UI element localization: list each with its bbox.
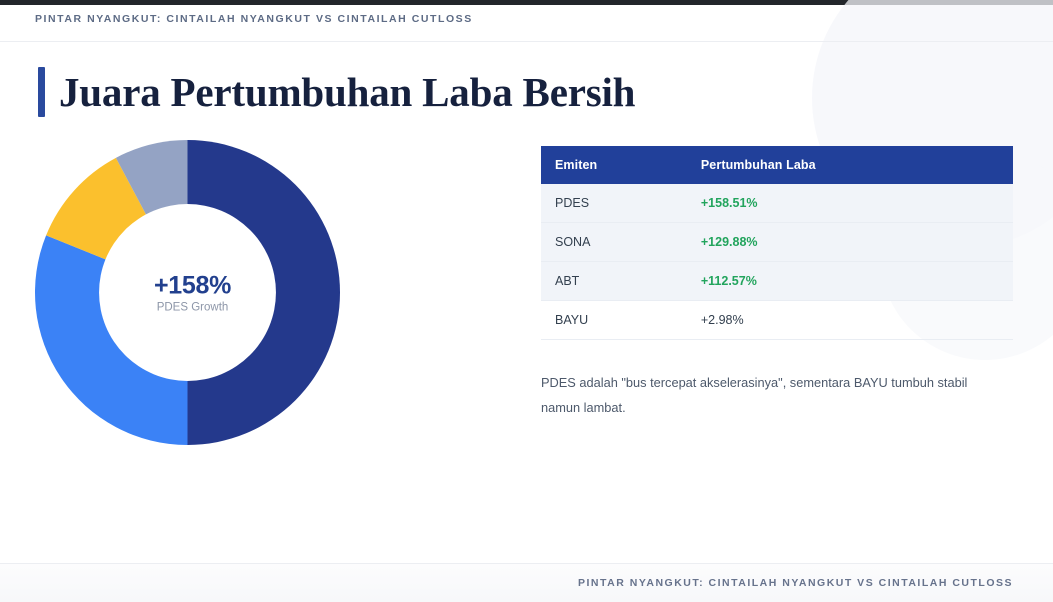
donut-chart: +158% PDES Growth [35,140,350,445]
chart-caption: PDES adalah "bus tercepat akselerasinya"… [541,371,993,420]
header-kicker: PINTAR NYANGKUT: CINTAILAH NYANGKUT VS C… [35,13,473,25]
table-row: SONA+129.88% [541,223,1013,262]
cell-emiten: ABT [541,262,678,301]
footer-text: PINTAR NYANGKUT: CINTAILAH NYANGKUT VS C… [0,577,1013,589]
table-row: PDES+158.51% [541,184,1013,223]
donut-center-caption: PDES Growth [113,301,273,313]
table-row: BAYU+2.98% [541,301,1013,340]
table-body: PDES+158.51%SONA+129.88%ABT+112.57%BAYU+… [541,184,1013,340]
cell-growth: +158.51% [678,184,1013,223]
donut-center-label: +158% PDES Growth [113,272,273,314]
donut-center-value: +158% [113,272,273,300]
growth-table-element: Emiten Pertumbuhan Laba PDES+158.51%SONA… [541,146,1013,340]
cell-growth: +2.98% [678,301,1013,340]
cell-emiten: SONA [541,223,678,262]
cell-growth: +129.88% [678,223,1013,262]
cell-emiten: PDES [541,184,678,223]
column-header-growth: Pertumbuhan Laba [678,146,1013,184]
page-title: Juara Pertumbuhan Laba Bersih [38,67,635,117]
table-head: Emiten Pertumbuhan Laba [541,146,1013,184]
growth-table: Emiten Pertumbuhan Laba PDES+158.51%SONA… [541,146,1013,340]
cell-growth: +112.57% [678,262,1013,301]
title-accent-bar [38,67,45,117]
cell-emiten: BAYU [541,301,678,340]
page-title-text: Juara Pertumbuhan Laba Bersih [59,72,635,113]
table-row: ABT+112.57% [541,262,1013,301]
slide-root: PINTAR NYANGKUT: CINTAILAH NYANGKUT VS C… [0,0,1053,602]
table-header-row: Emiten Pertumbuhan Laba [541,146,1013,184]
header-divider [0,41,1053,42]
column-header-emiten: Emiten [541,146,678,184]
